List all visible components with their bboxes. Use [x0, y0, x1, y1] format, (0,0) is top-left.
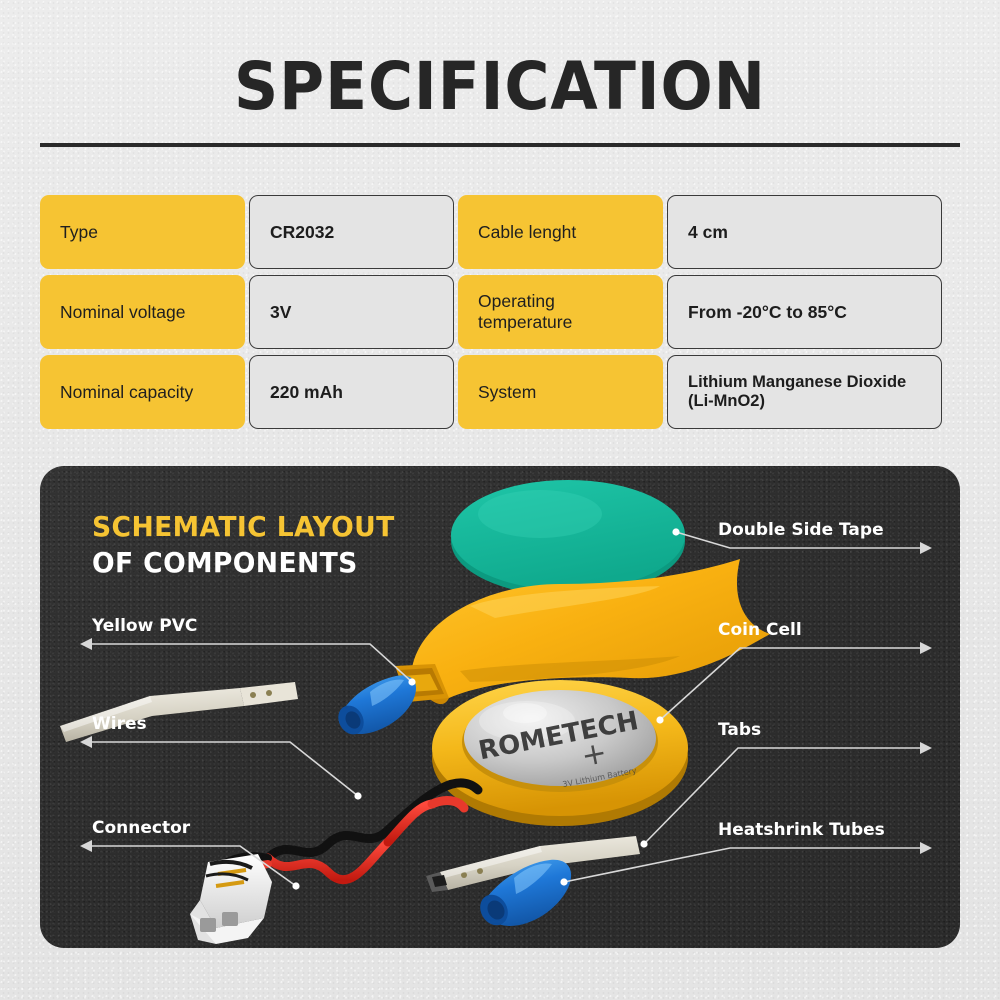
- callout-label-heatshrink-tubes: Heatshrink Tubes: [718, 820, 885, 840]
- page-title: SPECIFICATION: [35, 48, 965, 125]
- specification-table: Type CR2032 Cable lenght 4 cm Nominal vo…: [40, 195, 960, 429]
- callout-label-wires: Wires: [92, 714, 147, 734]
- spec-value-nominal-voltage: 3V: [249, 275, 454, 349]
- spec-key-type: Type: [40, 195, 245, 269]
- callout-label-yellow-pvc: Yellow PVC: [92, 616, 197, 636]
- spec-value-type: CR2032: [249, 195, 454, 269]
- spec-key-operating-temperature: Operating temperature: [458, 275, 663, 349]
- callout-label-double-side-tape: Double Side Tape: [718, 520, 884, 540]
- spec-key-system: System: [458, 355, 663, 429]
- spec-value-operating-temperature: From -20°C to 85°C: [667, 275, 942, 349]
- spec-key-nominal-capacity: Nominal capacity: [40, 355, 245, 429]
- title-divider: [40, 143, 960, 147]
- spec-key-nominal-voltage: Nominal voltage: [40, 275, 245, 349]
- spec-key-cable-length: Cable lenght: [458, 195, 663, 269]
- spec-value-system: Lithium Manganese Dioxide (Li-MnO2): [667, 355, 942, 429]
- spec-value-cable-length: 4 cm: [667, 195, 942, 269]
- callout-label-tabs: Tabs: [718, 720, 761, 740]
- spec-value-nominal-capacity: 220 mAh: [249, 355, 454, 429]
- schematic-panel: SCHEMATIC LAYOUT OF COMPONENTS: [40, 466, 960, 948]
- callout-label-connector: Connector: [92, 818, 190, 838]
- callout-label-coin-cell: Coin Cell: [718, 620, 802, 640]
